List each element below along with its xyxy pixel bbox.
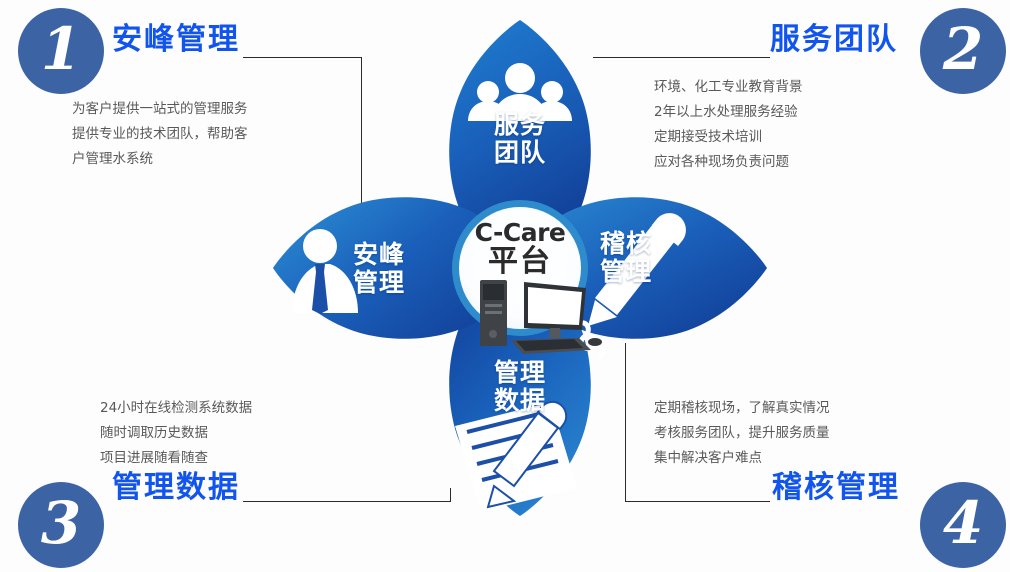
step-number-badge-4: 4: [920, 482, 1006, 568]
petal-label-line: 管理: [600, 258, 690, 286]
petal-label-line: 稽核: [600, 230, 690, 258]
step-number-badge-1: 1: [18, 8, 104, 94]
section-title-4: 稽核管理: [772, 473, 900, 503]
petal-label-line: 服务: [475, 111, 565, 139]
section-body-1: 为客户提供一站式的管理服务 提供专业的技术团队，帮助客 户管理水系统: [72, 97, 248, 172]
petal-label-line: 数据: [475, 387, 565, 415]
section-title-2: 服务团队: [770, 25, 898, 55]
body-line: 户管理水系统: [72, 147, 248, 172]
petal-label-anfeng-management: 安峰 管理: [353, 241, 443, 297]
step-number-badge-3: 3: [18, 482, 104, 568]
step-number-3: 3: [41, 494, 81, 552]
hub-brand-cn: 平台: [465, 247, 575, 277]
body-line: 24小时在线检测系统数据: [100, 396, 252, 421]
body-line: 提供专业的技术团队，帮助客: [72, 122, 248, 147]
petal-label-management-data: 管理 数据: [475, 359, 565, 415]
body-line: 随时调取历史数据: [100, 421, 252, 446]
petal-label-audit-management: 稽核 管理: [600, 230, 690, 286]
section-title-1: 安峰管理: [112, 25, 240, 55]
petal-label-service-team: 服务 团队: [475, 111, 565, 167]
central-flower-diagram: 服务 团队 管理 数据 安峰 管理 稽核 管理 C-Care 平台: [255, 8, 785, 528]
petal-label-line: 管理: [353, 269, 443, 297]
petal-label-line: 管理: [475, 359, 565, 387]
petal-label-line: 安峰: [353, 241, 443, 269]
hub-brand-en: C-Care: [465, 220, 575, 245]
section-body-3: 24小时在线检测系统数据 随时调取历史数据 项目进展随看随查: [100, 396, 252, 471]
body-line: 项目进展随看随查: [100, 446, 252, 471]
step-number-1: 1: [41, 20, 81, 78]
step-number-4: 4: [943, 494, 983, 552]
section-title-3: 管理数据: [112, 473, 240, 503]
hub-brand: C-Care 平台: [465, 220, 575, 277]
step-number-badge-2: 2: [920, 8, 1006, 94]
body-line: 为客户提供一站式的管理服务: [72, 97, 248, 122]
infographic-canvas: 1 2 3 4 安峰管理 服务团队 管理数据 稽核管理 为客户提供一站式的管理服…: [0, 0, 1010, 572]
step-number-2: 2: [943, 20, 983, 78]
petal-label-line: 团队: [475, 139, 565, 167]
